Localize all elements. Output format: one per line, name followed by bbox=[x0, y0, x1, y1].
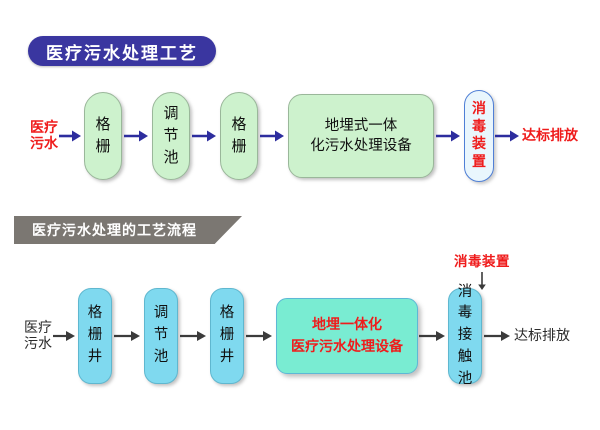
flow1-node-grid-1[interactable]: 格 栅 bbox=[84, 92, 122, 180]
flow2-arrow-6 bbox=[482, 329, 514, 343]
disinfection-annotation-label: 消毒装置 bbox=[437, 250, 527, 270]
flow2-arrow-2 bbox=[112, 329, 144, 343]
flow2-arrow-3 bbox=[178, 329, 210, 343]
flow2-input-label: 医疗 污水 bbox=[24, 320, 52, 352]
flow1-arrow-2 bbox=[122, 129, 152, 143]
flow2-node-grid-well-1[interactable]: 格 栅 井 bbox=[78, 288, 112, 384]
flow1-node-buried-integrated-equipment[interactable]: 地埋式一体 化污水处理设备 bbox=[288, 94, 434, 178]
flow1-output-label: 达标排放 bbox=[522, 128, 578, 144]
process-flow-row-2: 医疗 污水 格 栅 井 调 节 池 格 栅 井 地埋一体化 医疗污水处理设备 bbox=[24, 286, 570, 386]
flow1-node-disinfection-device[interactable]: 消 毒 装 置 bbox=[464, 90, 494, 182]
flow1-node-regulating-tank[interactable]: 调 节 池 bbox=[152, 92, 190, 180]
section1-title-badge: 医疗污水处理工艺 bbox=[28, 36, 216, 66]
flow1-node-grid-2[interactable]: 格 栅 bbox=[220, 92, 258, 180]
flow2-node-buried-integrated-equipment[interactable]: 地埋一体化 医疗污水处理设备 bbox=[276, 298, 418, 374]
section2-title-banner: 医疗污水处理的工艺流程 bbox=[14, 216, 242, 244]
flow1-arrow-4 bbox=[258, 129, 288, 143]
flow2-arrow-1 bbox=[52, 329, 78, 343]
flow2-node-regulating-tank[interactable]: 调 节 池 bbox=[144, 288, 178, 384]
process-flow-row-1: 医疗 污水 格 栅 调 节 池 格 栅 地埋式一体 化污水处理设备 bbox=[30, 86, 578, 186]
flow1-arrow-5 bbox=[434, 129, 464, 143]
flow1-arrow-6 bbox=[494, 129, 522, 143]
flow2-node-disinfection-contact-tank[interactable]: 消 毒 接 触 池 bbox=[448, 288, 482, 384]
flow2-output-label: 达标排放 bbox=[514, 328, 570, 344]
flow1-arrow-1 bbox=[58, 129, 84, 143]
flow2-node-grid-well-2[interactable]: 格 栅 井 bbox=[210, 288, 244, 384]
flow1-node-grid-1-label: 格 栅 bbox=[95, 114, 110, 158]
flow1-node-grid-2-label: 格 栅 bbox=[231, 114, 246, 158]
flow1-arrow-3 bbox=[190, 129, 220, 143]
section2-title-text: 医疗污水处理的工艺流程 bbox=[32, 216, 197, 244]
flow2-arrow-5 bbox=[418, 329, 448, 343]
flow2-arrow-4 bbox=[244, 329, 276, 343]
flow1-input-label: 医疗 污水 bbox=[30, 120, 58, 152]
flow1-node-regulating-tank-label: 调 节 池 bbox=[163, 103, 178, 168]
